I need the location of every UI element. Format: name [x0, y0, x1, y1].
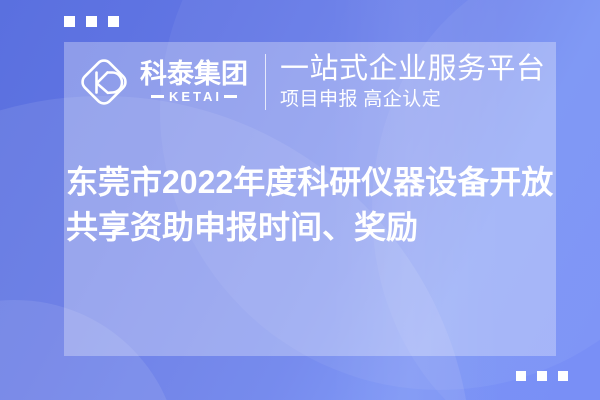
ketai-diamond-kd-logo-icon — [74, 52, 134, 112]
brand-name-en: KETAI — [169, 90, 222, 103]
logo-rule-left-icon — [151, 95, 164, 98]
brand-name-cn: 科泰集团 — [140, 61, 248, 89]
slogan-main-text: 一站式企业服务平台 — [280, 53, 546, 85]
decorative-dots-bottom-right — [516, 371, 568, 381]
logo-rule-right-icon — [224, 95, 237, 98]
square-dot-icon — [86, 16, 97, 27]
square-dot-icon — [64, 16, 75, 27]
banner-header: 科泰集团 KETAI 一站式企业服务平台 项目申报 高企认定 — [64, 42, 556, 122]
header-divider — [265, 54, 266, 110]
square-dot-icon — [516, 371, 526, 381]
square-dot-icon — [537, 371, 547, 381]
brand-logo[interactable]: 科泰集团 KETAI — [74, 52, 248, 112]
decorative-dots-top-left — [64, 16, 119, 27]
promo-banner: 科泰集团 KETAI 一站式企业服务平台 项目申报 高企认定 东莞市2022年度… — [0, 0, 600, 400]
banner-headline: 东莞市2022年度科研仪器设备开放共享资助申报时间、奖励 — [66, 160, 566, 251]
square-dot-icon — [558, 371, 568, 381]
brand-name-en-row: KETAI — [140, 90, 248, 103]
slogan-block: 一站式企业服务平台 项目申报 高企认定 — [280, 53, 546, 110]
slogan-sub-text: 项目申报 高企认定 — [280, 89, 546, 111]
square-dot-icon — [108, 16, 119, 27]
brand-logo-text: 科泰集团 KETAI — [140, 61, 248, 104]
